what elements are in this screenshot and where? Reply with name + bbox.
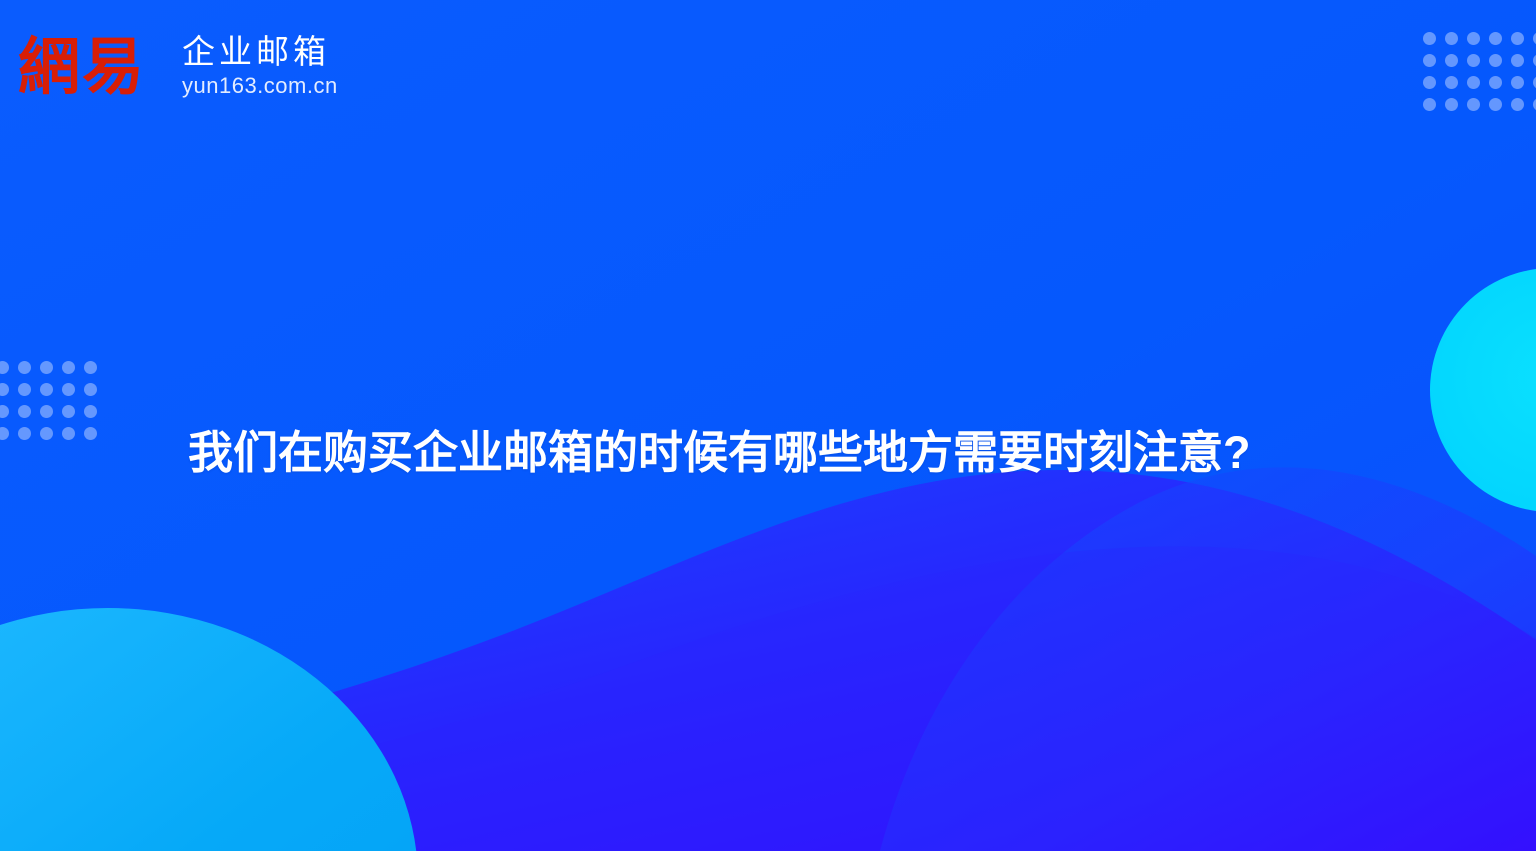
wave-blue-right bbox=[880, 467, 1536, 851]
dot bbox=[18, 383, 31, 396]
slide-canvas: 網易 企业邮箱 yun163.com.cn 我们在购买企业邮箱的时候有哪些地方需… bbox=[0, 0, 1536, 851]
dot bbox=[40, 383, 53, 396]
dot bbox=[62, 361, 75, 374]
dot bbox=[1511, 76, 1524, 89]
netease-logo[interactable]: 網易 企业邮箱 yun163.com.cn bbox=[18, 22, 338, 106]
dot bbox=[1511, 98, 1524, 111]
logo-product-name: 企业邮箱 bbox=[182, 33, 338, 71]
dot bbox=[1423, 98, 1436, 111]
wave-highlight bbox=[0, 546, 1536, 851]
dot bbox=[1423, 76, 1436, 89]
wave-violet bbox=[0, 470, 1536, 851]
dot-grid-left bbox=[0, 361, 97, 440]
page-title: 我们在购买企业邮箱的时候有哪些地方需要时刻注意? bbox=[188, 424, 1388, 482]
dot bbox=[0, 361, 9, 374]
dot bbox=[0, 383, 9, 396]
dot bbox=[1489, 98, 1502, 111]
dot bbox=[1445, 54, 1458, 67]
dot bbox=[1489, 76, 1502, 89]
dot bbox=[84, 405, 97, 418]
dot bbox=[0, 405, 9, 418]
dot bbox=[1511, 54, 1524, 67]
dot bbox=[62, 427, 75, 440]
dot bbox=[62, 383, 75, 396]
dot bbox=[40, 361, 53, 374]
dot bbox=[84, 383, 97, 396]
dot bbox=[1489, 54, 1502, 67]
dot bbox=[1423, 32, 1436, 45]
dot bbox=[1423, 54, 1436, 67]
dot bbox=[18, 405, 31, 418]
netease-brand-mark-text: 網易 bbox=[18, 30, 146, 103]
dot bbox=[1467, 76, 1480, 89]
circle-cyan-right bbox=[1430, 268, 1536, 512]
dot bbox=[40, 405, 53, 418]
dot bbox=[18, 361, 31, 374]
dot bbox=[1445, 76, 1458, 89]
netease-brand-mark-icon: 網易 bbox=[18, 22, 170, 106]
dot bbox=[40, 427, 53, 440]
dot bbox=[84, 361, 97, 374]
dot bbox=[18, 427, 31, 440]
dot bbox=[0, 427, 9, 440]
logo-text-block: 企业邮箱 yun163.com.cn bbox=[182, 29, 338, 99]
dot bbox=[1511, 32, 1524, 45]
circle-cyan-bottom-left bbox=[0, 608, 418, 851]
dot bbox=[1467, 54, 1480, 67]
dot bbox=[1445, 98, 1458, 111]
dot bbox=[84, 427, 97, 440]
dot-grid-top-right bbox=[1423, 32, 1536, 111]
dot bbox=[1489, 32, 1502, 45]
dot bbox=[1467, 32, 1480, 45]
dot bbox=[1467, 98, 1480, 111]
dot bbox=[62, 405, 75, 418]
logo-url: yun163.com.cn bbox=[182, 73, 338, 99]
dot bbox=[1445, 32, 1458, 45]
